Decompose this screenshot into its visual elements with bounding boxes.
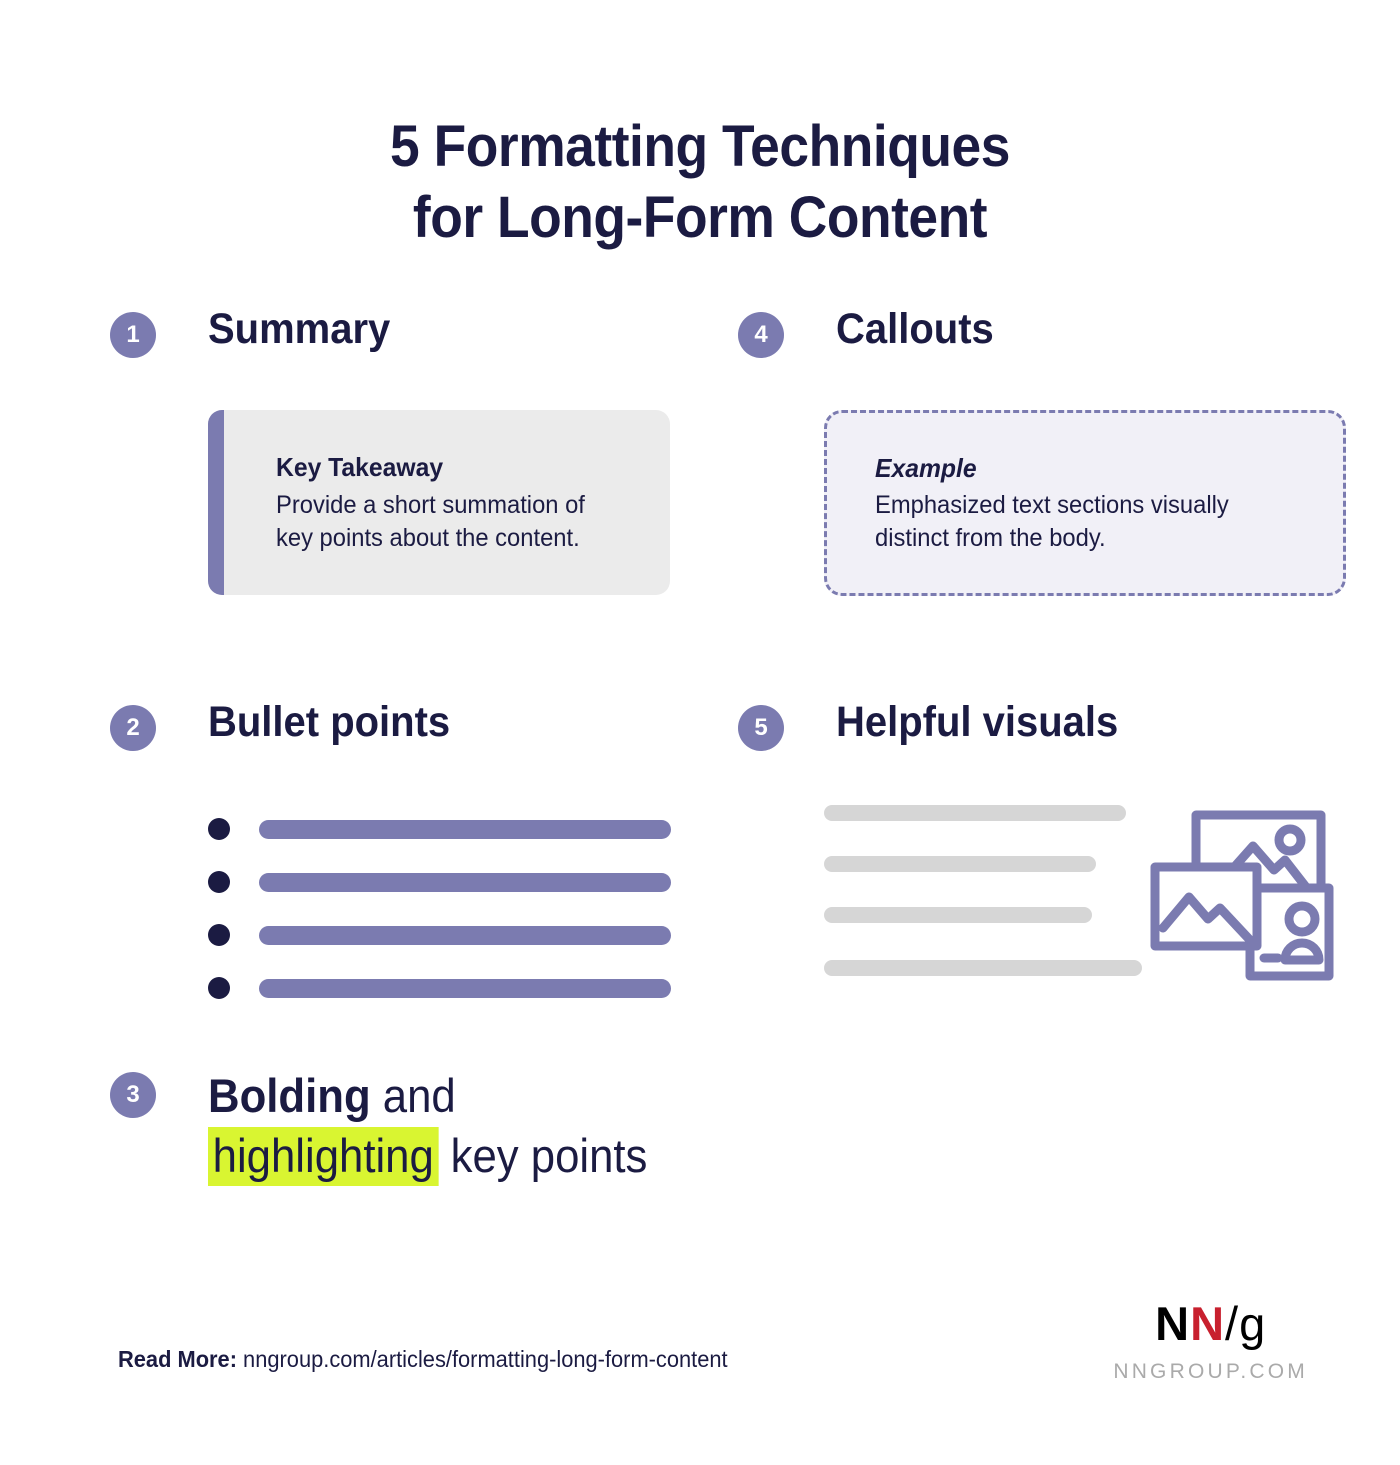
step-number-badge-5: 5 [738, 705, 784, 751]
text-placeholder-line [824, 805, 1126, 821]
key-takeaway-text: Provide a short summation of key points … [276, 489, 622, 556]
bullet-dot-icon [208, 977, 230, 999]
step-number-badge-1: 1 [110, 312, 156, 358]
section-summary-header: 1 Summary [110, 306, 690, 358]
callout-text: Emphasized text sections visually distin… [875, 489, 1295, 556]
section-helpful-visuals-header: 5 Helpful visuals [738, 699, 1328, 751]
bolding-tail: key points [438, 1129, 647, 1182]
section-helpful-visuals: 5 Helpful visuals [738, 699, 1328, 998]
highlighted-word: highlighting [208, 1127, 438, 1186]
accent-bar [208, 410, 224, 596]
images-stack-icon [1144, 805, 1334, 995]
bullet-placeholder-bar [259, 926, 671, 945]
read-more-line: Read More: nngroup.com/articles/formatti… [118, 1346, 728, 1373]
list-item [208, 909, 690, 962]
callout-kicker: Example [875, 453, 1295, 484]
logo-letter-g: g [1239, 1297, 1266, 1350]
logo-letter-n1: N [1155, 1297, 1190, 1350]
page-title-line-2: for Long-Form Content [56, 183, 1344, 254]
list-item [208, 803, 690, 856]
bullet-placeholder-bar [259, 979, 671, 998]
section-bullet-points-header: 2 Bullet points [110, 699, 690, 751]
bullet-dot-icon [208, 871, 230, 893]
list-item [208, 962, 690, 1015]
text-placeholder-line [824, 960, 1142, 976]
visuals-illustration [824, 803, 1328, 998]
logo-slash: / [1225, 1297, 1239, 1350]
bullet-list [208, 803, 690, 1015]
nng-logo-mark: NN/g [1113, 1300, 1308, 1347]
step-number-badge-4: 4 [738, 312, 784, 358]
nngroup-domain-text: NNGROUP.COM [1113, 1360, 1308, 1384]
section-summary: 1 Summary Key Takeaway Provide a short s… [110, 306, 690, 596]
section-helpful-visuals-title: Helpful visuals [836, 699, 1118, 745]
text-placeholder-line [824, 907, 1092, 923]
section-callouts-header: 4 Callouts [738, 306, 1328, 358]
bullet-placeholder-bar [259, 873, 671, 892]
step-number-badge-3: 3 [110, 1072, 156, 1118]
bullet-dot-icon [208, 818, 230, 840]
text-placeholder-line [824, 856, 1096, 872]
bullet-dot-icon [208, 924, 230, 946]
key-takeaway-kicker: Key Takeaway [276, 452, 622, 483]
key-takeaway-body: Key Takeaway Provide a short summation o… [224, 410, 670, 596]
section-summary-title: Summary [208, 306, 390, 352]
list-item [208, 856, 690, 909]
logo-letter-n2: N [1190, 1297, 1225, 1350]
section-bolding-highlighting: 3 Bolding and highlighting key points [110, 1066, 910, 1186]
section-bullet-points-title: Bullet points [208, 699, 450, 745]
step-number-badge-2: 2 [110, 705, 156, 751]
section-callouts: 4 Callouts Example Emphasized text secti… [738, 306, 1328, 597]
section-bolding-header: 3 Bolding and highlighting key points [110, 1066, 910, 1186]
page-title: 5 Formatting Techniques for Long-Form Co… [56, 0, 1344, 254]
section-callouts-title: Callouts [836, 306, 994, 352]
page-title-line-1: 5 Formatting Techniques [56, 112, 1344, 183]
key-takeaway-box: Key Takeaway Provide a short summation o… [208, 410, 670, 596]
bolding-connector: and [371, 1069, 456, 1122]
nng-logo: NN/g NNGROUP.COM [1113, 1300, 1308, 1384]
article-url[interactable]: nngroup.com/articles/formatting-long-for… [243, 1346, 728, 1372]
section-bullet-points: 2 Bullet points [110, 699, 690, 1015]
section-bolding-title: Bolding and highlighting key points [208, 1066, 647, 1186]
read-more-label: Read More: [118, 1346, 237, 1372]
bolding-strong-word: Bolding [208, 1069, 371, 1122]
bullet-placeholder-bar [259, 820, 671, 839]
callout-example-box: Example Emphasized text sections visuall… [824, 410, 1346, 597]
